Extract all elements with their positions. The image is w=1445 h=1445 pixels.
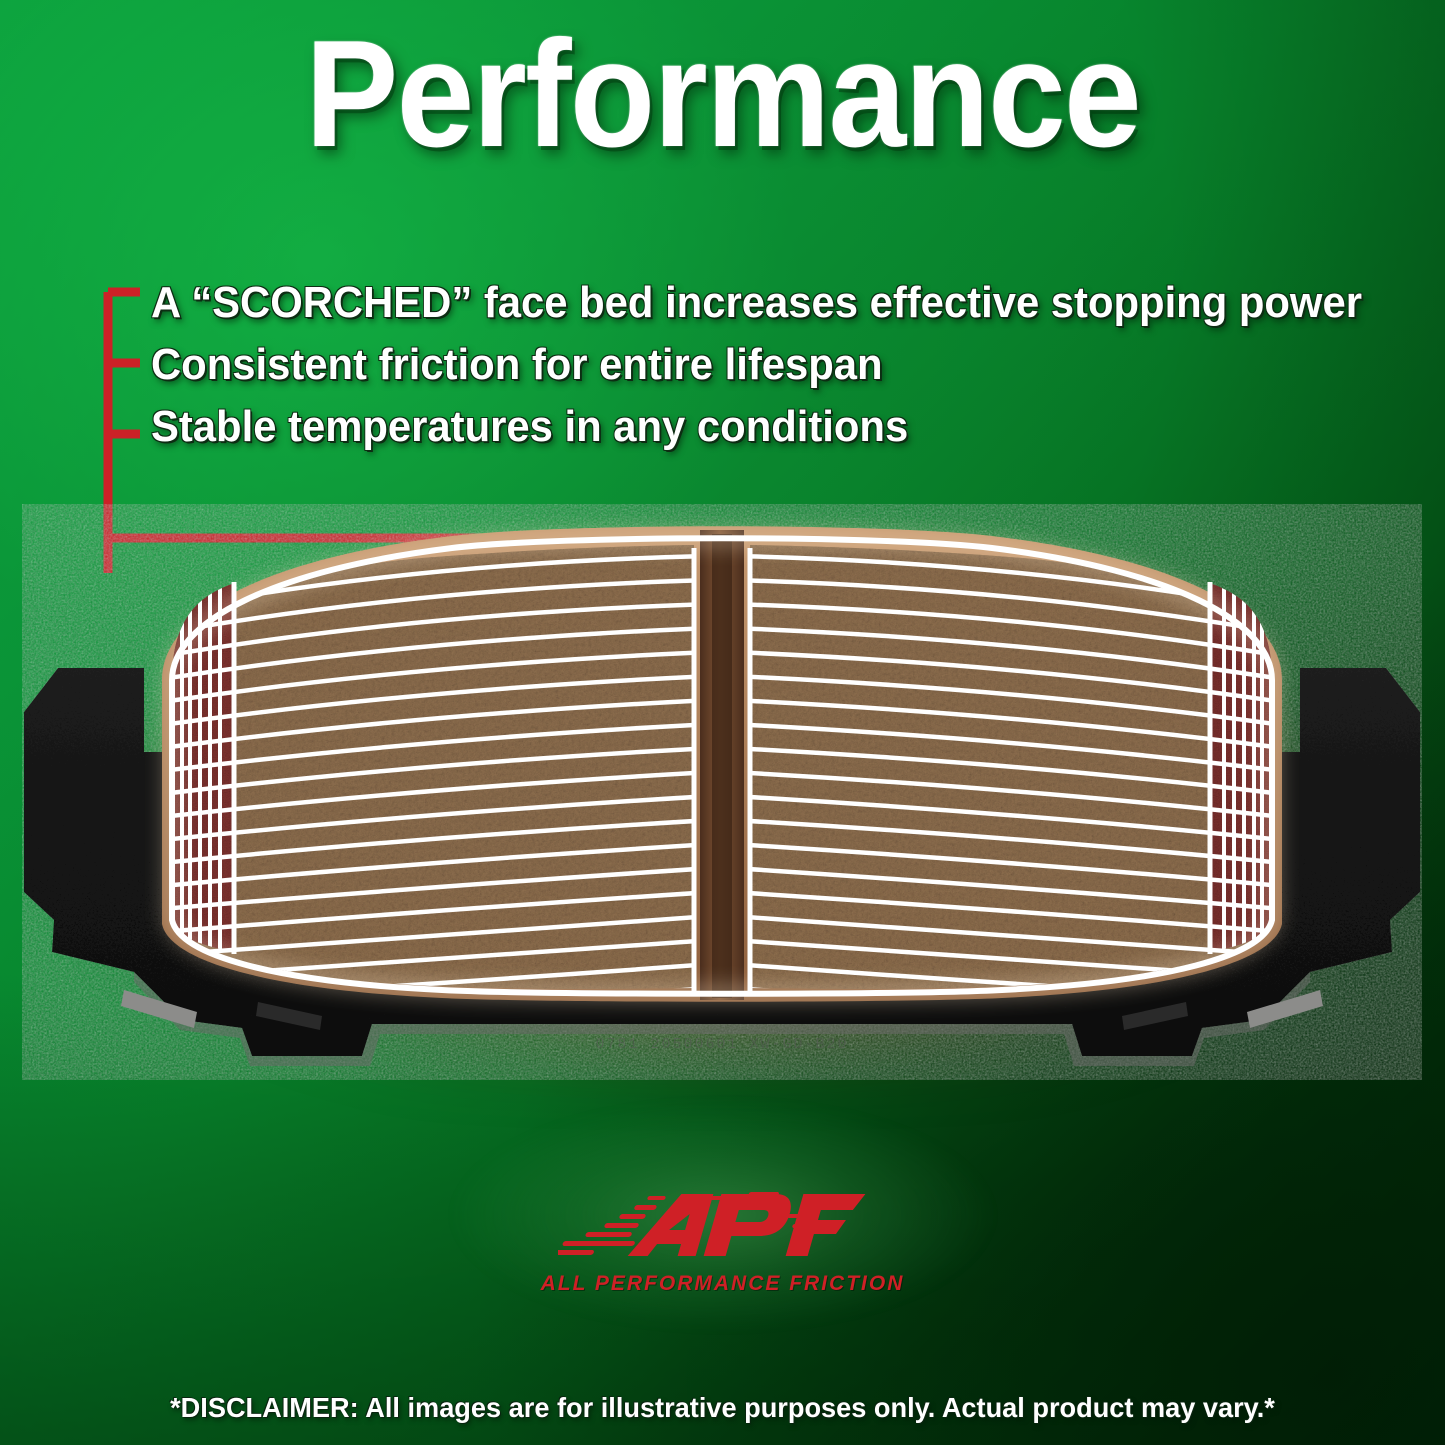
list-item: Consistent friction for entire lifespan (103, 334, 1433, 396)
apf-logo-mark (558, 1178, 888, 1270)
feature-label: Stable temperatures in any conditions (151, 402, 908, 452)
feature-list: A “SCORCHED” face bed increases effectiv… (103, 272, 1433, 458)
list-item: Stable temperatures in any conditions (103, 396, 1433, 458)
product-marketing-poster: Performance A “SCORCHED” face bed increa… (0, 0, 1445, 1445)
feature-label: A “SCORCHED” face bed increases effectiv… (151, 278, 1362, 328)
brand-tagline: ALL PERFORMANCE FRICTION (0, 1272, 1445, 1296)
page-title: Performance (58, 18, 1387, 170)
disclaimer-text: *DISCLAIMER: All images are for illustra… (22, 1392, 1424, 1424)
feature-label: Consistent friction for entire lifespan (151, 340, 883, 390)
product-image-brake-pad: 0781 20500601 XW-GD-B20 (22, 500, 1422, 1080)
list-item: A “SCORCHED” face bed increases effectiv… (103, 272, 1433, 334)
plate-part-marking: 0781 20500601 XW-GD-B20 (595, 1036, 848, 1053)
brand-logo: ALL PERFORMANCE FRICTION (0, 1178, 1445, 1296)
brake-pad-illustration: 0781 20500601 XW-GD-B20 (22, 500, 1422, 1080)
